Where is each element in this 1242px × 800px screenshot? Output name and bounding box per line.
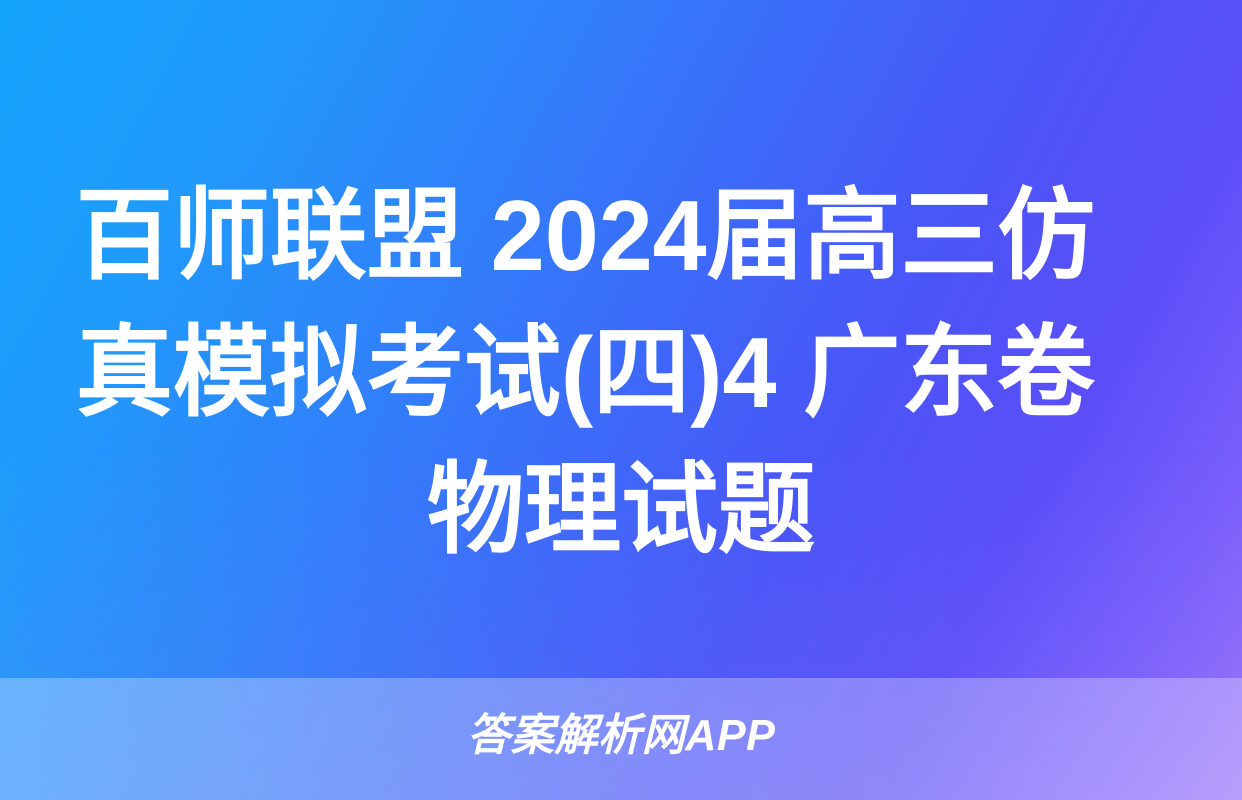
exam-cover-card: 百师联盟 2024届高三仿 真模拟考试(四)4 广东卷 物理试题 答案解析网AP…	[0, 0, 1242, 800]
title-line-1: 百师联盟 2024届高三仿	[39, 168, 1203, 305]
watermark: 答案解析网APP	[0, 706, 1242, 766]
page-title: 百师联盟 2024届高三仿 真模拟考试(四)4 广东卷 物理试题	[0, 168, 1242, 608]
title-line-3: 物理试题	[57, 442, 1184, 579]
title-line-2: 真模拟考试(四)4 广东卷	[39, 305, 1203, 442]
watermark-label: 答案解析网APP	[467, 708, 775, 764]
